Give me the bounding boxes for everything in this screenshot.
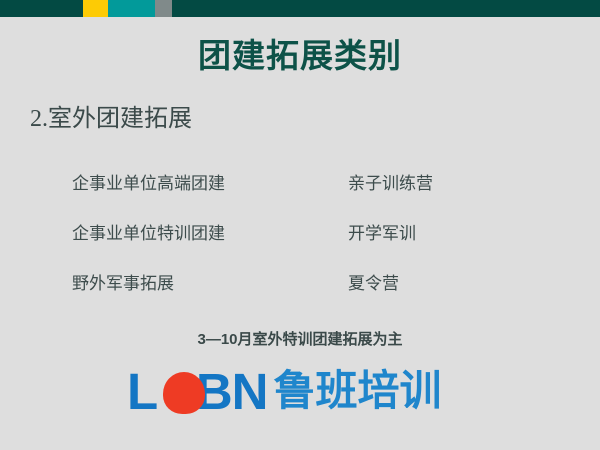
brand-logo-letters-bn: BN: [196, 363, 268, 420]
category-row: 野外军事拓展 夏令营: [0, 275, 600, 325]
category-row: 企事业单位特训团建 开学军训: [0, 225, 600, 275]
top-bar-segment-teal: [108, 0, 155, 17]
season-note: 3—10月室外特训团建拓展为主: [0, 332, 600, 347]
brand-logo: LOBN 鲁班培训: [0, 365, 600, 425]
category-item-left: 野外军事拓展: [72, 275, 174, 292]
category-item-left: 企事业单位高端团建: [72, 175, 225, 192]
top-bar-segment-gray: [155, 0, 172, 17]
page-title: 团建拓展类别: [0, 41, 600, 74]
brand-logo-latin: LOBN: [127, 366, 268, 417]
section-heading: 2.室外团建拓展: [30, 107, 192, 131]
top-decorative-bar: [0, 0, 600, 17]
category-item-right: 夏令营: [348, 275, 399, 292]
category-row: 企事业单位高端团建 亲子训练营: [0, 175, 600, 225]
brand-logo-letter-l: L: [127, 363, 157, 420]
brand-logo-inner: LOBN 鲁班培训: [127, 365, 442, 417]
slide-body: 团建拓展类别 2.室外团建拓展 企事业单位高端团建 亲子训练营 企事业单位特训团…: [0, 17, 600, 450]
category-list: 企事业单位高端团建 亲子训练营 企事业单位特训团建 开学军训 野外军事拓展 夏令…: [0, 175, 600, 325]
category-item-right: 亲子训练营: [348, 175, 433, 192]
brand-logo-circle-icon: [163, 372, 205, 414]
category-item-right: 开学军训: [348, 225, 416, 242]
category-item-left: 企事业单位特训团建: [72, 225, 225, 242]
brand-logo-chinese: 鲁班培训: [274, 370, 442, 412]
top-bar-segment-yellow: [83, 0, 108, 17]
